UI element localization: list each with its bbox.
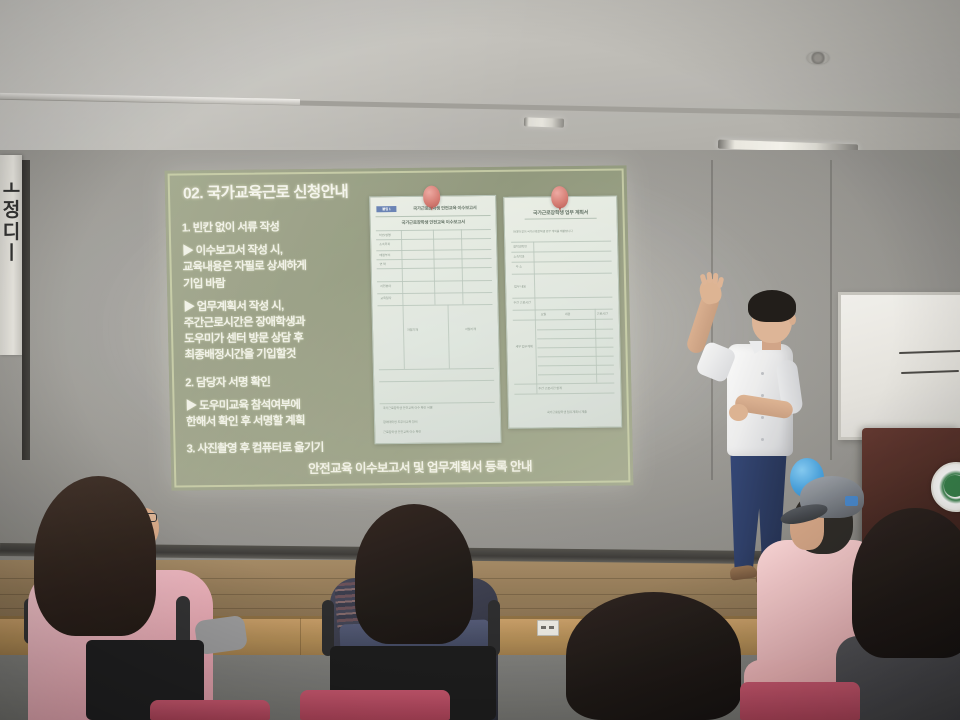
auditorium-seat[interactable] [740,682,860,720]
projected-slide: 02. 국가교육근로 신청안내 1. 빈칸 없이 서류 작성 ▶ 이수보고서 작… [165,165,634,490]
shirt-button [761,372,764,375]
doc-gridline [379,380,494,382]
doc-tag-label: 붙임 1 [376,206,396,212]
doc-rule [525,218,597,220]
doc-subheader: 국가근로장학생 안전교육 이수보고서 [371,219,496,226]
doc-header: 국가근로장학생 업무 계획서 [504,209,616,217]
doc-note: 장애대학생 도우미교육 참석 [383,419,418,424]
doc-gridline [512,261,612,263]
doc-gridline [538,365,614,367]
outlet-slot [549,626,554,629]
doc-note: 근로장학생 안전교육 이수 확인 [383,429,421,434]
doc-field-label: 주간 근로시간 [513,300,530,305]
slide-bullet-1: 1. 빈칸 없이 서류 작성 [182,218,364,236]
auditorium-seat[interactable] [150,700,270,720]
doc-field-value: 자필기재 [465,326,476,331]
doc-col-header: 요일 [541,311,547,316]
doc-field-label: 업무 내용 [514,284,526,289]
doc-field-label: 주 소 [516,264,522,269]
attendee-hair [852,508,960,658]
doc-gridline-v [533,241,537,393]
doc-rule [376,215,491,217]
doc-gridline [511,251,611,253]
doc-work-plan: 국가근로장학생 업무 계획서 아래와 같이 국가근로장학생 업무 계획을 제출합… [503,196,622,429]
slide-body: 1. 빈칸 없이 서류 작성 ▶ 이수보고서 작성 시, 교육내용은 자필로 상… [182,216,369,457]
doc-gridline [537,329,613,331]
doc-gridline [514,383,614,385]
doc-gridline [537,338,613,340]
doc-gridline [538,374,614,376]
doc-gridline [511,241,611,243]
screenshot-root: ㅗ 정 디 ㅣ 02. 국가교육근로 신청안내 1. 빈칸 없이 서류 작성 ▶… [0,0,960,720]
balloon-decoration [551,186,568,208]
whiteboard-mark [899,350,960,354]
presenter-right-hand [729,404,748,421]
doc-total-label: 주간 근로시간 합계 [538,385,562,390]
doc-footer-note: 국가근로장학생 업무계획서 제출 [547,409,587,414]
doc-gridline [379,368,494,370]
doc-gridline [513,319,613,321]
presenter-finger [706,272,712,283]
doc-field-label: 장학생학번 [513,244,527,249]
doc-field-label: 교육일자 [380,295,391,300]
banner-text: ㅗ 정 디 ㅣ [0,155,22,264]
wall-banner: ㅗ 정 디 ㅣ [0,155,22,355]
doc-lead-text: 아래와 같이 국가근로장학생 업무 계획을 제출합니다 [513,229,573,234]
attendee-hair [355,504,473,644]
whiteboard-mark [901,370,959,374]
doc-col-header: 내용 [565,311,571,316]
doc-gridline [537,347,613,349]
attendee-hair [34,476,156,636]
doc-gridline [514,393,614,395]
doc-field-label: 소속학과 [513,254,524,259]
wall-outlet[interactable] [537,620,559,636]
doc-field-label: 지원분야 [380,283,391,288]
attendee-hair [566,592,741,720]
slide-bullet-3: 3. 사진촬영 후 컴퓨터로 옮기기 [186,439,368,457]
doc-field-label: 학번/성명 [379,232,391,237]
whiteboard [838,292,960,440]
doc-note: 국가근로장학생 안전교육 이수 확인 서명 [383,405,433,411]
shirt-button [761,394,764,397]
doc-field-label: 배정부서 [379,252,390,257]
cap-logo-icon [845,496,858,506]
door-frame [22,160,30,460]
doc-header: 국가근로장학생 안전교육 이수보고서 [398,205,491,212]
doc-gridline-v [402,305,404,369]
doc-field-label: 소속학과 [379,241,390,246]
presenter-hair [748,290,796,322]
sprinkler-icon [807,52,829,64]
doc-field-label: 연 락 [380,261,386,266]
doc-field-label: 세부 업무계획 [515,343,532,348]
doc-gridline [380,402,495,404]
slide-title: 02. 국가교육근로 신청안내 [183,180,349,204]
auditorium-seat[interactable] [300,690,450,720]
doc-field-value: 자필기재 [407,327,418,332]
slide-bullet-2: 2. 담당자 서명 확인 [185,373,367,391]
doc-col-header: 근로시간 [597,311,608,316]
doc-gridline-v [447,304,449,368]
shirt-button [761,438,764,441]
balloon-decoration [423,186,440,208]
shirt-button [761,416,764,419]
doc-gridline [538,356,614,358]
doc-completion-report: 붙임 1 국가근로장학생 안전교육 이수보고서 국가근로장학생 안전교육 이수보… [369,195,501,444]
outlet-slot [541,626,546,629]
doc-gridline [512,273,612,275]
ceiling-light-strip [524,117,564,127]
wall-seam [830,160,832,460]
doc-gridline [512,297,612,299]
slide-line-1a2: 기입 바람 [183,274,365,292]
